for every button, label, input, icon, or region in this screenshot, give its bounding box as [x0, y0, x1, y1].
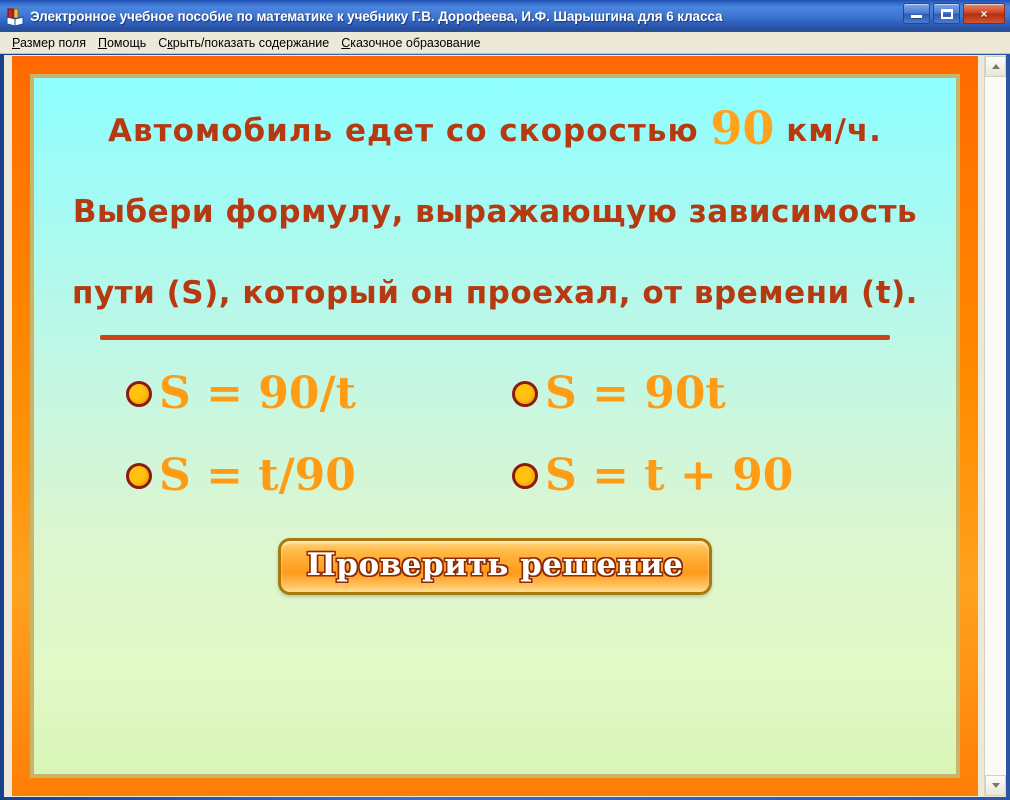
question-text-after: км/ч.: [774, 113, 882, 149]
menu-item-help[interactable]: Помощь: [92, 35, 152, 51]
question-line-2: Выбери формулу, выражающую зависимость: [64, 197, 926, 228]
check-solution-button[interactable]: Проверить решение: [278, 538, 713, 595]
scroll-down-icon: [992, 783, 1000, 788]
client-area: Автомобиль едет со скоростью 90 км/ч. Вы…: [4, 55, 1006, 797]
question-line-1: Автомобиль едет со скоростью 90 км/ч.: [64, 116, 926, 147]
radio-button-icon[interactable]: [512, 463, 538, 489]
radio-button-icon[interactable]: [126, 381, 152, 407]
minimize-icon: [911, 15, 922, 18]
menu-bar: Размер поля Помощь Скрыть/показать содер…: [0, 32, 1010, 54]
title-bar[interactable]: Электронное учебное пособие по математик…: [0, 0, 1010, 32]
menu-accel: Р: [12, 36, 20, 50]
slide-content: Автомобиль едет со скоростью 90 км/ч. Вы…: [34, 78, 956, 774]
menu-label-prefix: С: [158, 36, 167, 50]
option-2[interactable]: S = 90t: [512, 372, 898, 416]
application-window: Электронное учебное пособие по математик…: [0, 0, 1010, 800]
scroll-up-button[interactable]: [985, 56, 1006, 77]
speed-value: 90: [710, 101, 774, 155]
menu-label-suffix: омощь: [107, 36, 146, 50]
menu-item-field-size[interactable]: Размер поля: [6, 35, 92, 51]
question-text-before: Автомобиль едет со скоростью: [108, 113, 710, 149]
option-3[interactable]: S = t/90: [126, 454, 512, 498]
maximize-button[interactable]: [933, 3, 960, 24]
divider: [100, 335, 890, 340]
slide-canvas: Автомобиль едет со скоростью 90 км/ч. Вы…: [30, 74, 960, 778]
radio-button-icon[interactable]: [512, 381, 538, 407]
option-label: S = 90/t: [159, 372, 356, 416]
maximize-icon: [941, 9, 953, 19]
option-4[interactable]: S = t + 90: [512, 454, 898, 498]
question-line-3: пути (S), который он проехал, от времени…: [64, 278, 926, 309]
menu-item-fairytale-education[interactable]: Сказочное образование: [335, 35, 486, 51]
menu-accel: П: [98, 36, 107, 50]
check-button-row: Проверить решение: [64, 538, 926, 595]
scroll-up-icon: [992, 64, 1000, 69]
menu-label-suffix: казочное образование: [350, 36, 480, 50]
option-label: S = t + 90: [545, 454, 793, 498]
scrollbar-track[interactable]: [985, 77, 1006, 775]
vertical-scrollbar[interactable]: [984, 56, 1005, 796]
menu-accel: С: [341, 36, 350, 50]
book-icon: [5, 7, 25, 27]
slide-frame: Автомобиль едет со скоростью 90 км/ч. Вы…: [12, 56, 978, 796]
window-title: Электронное учебное пособие по математик…: [30, 9, 722, 24]
close-button[interactable]: ×: [963, 3, 1005, 24]
close-icon: ×: [980, 8, 987, 20]
menu-label-suffix: рыть/показать содержание: [173, 36, 329, 50]
scroll-down-button[interactable]: [985, 775, 1006, 796]
option-1[interactable]: S = 90/t: [126, 372, 512, 416]
menu-label-suffix: азмер поля: [20, 36, 86, 50]
radio-button-icon[interactable]: [126, 463, 152, 489]
answer-options: S = 90/t S = 90t S = t/90 S = t + 9: [64, 372, 926, 498]
menu-item-toggle-contents[interactable]: Скрыть/показать содержание: [152, 35, 335, 51]
window-controls: ×: [903, 3, 1005, 24]
option-label: S = t/90: [159, 454, 356, 498]
minimize-button[interactable]: [903, 3, 930, 24]
option-label: S = 90t: [545, 372, 726, 416]
